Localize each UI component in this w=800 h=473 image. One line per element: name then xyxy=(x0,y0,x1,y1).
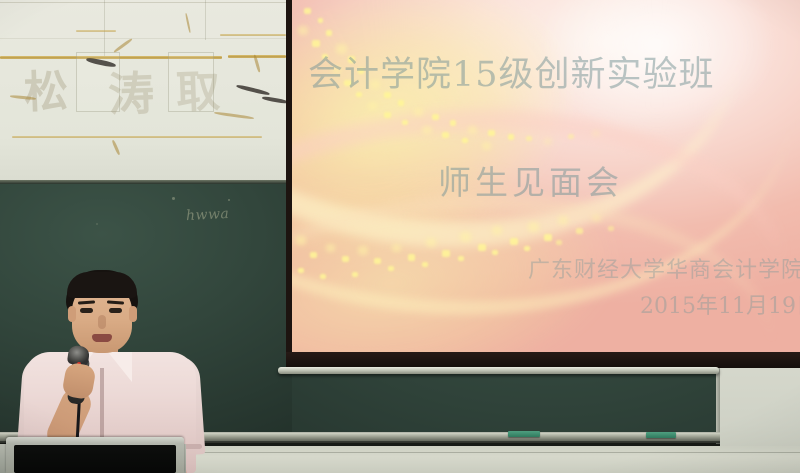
slide-organization: 广东财经大学华商会计学院 xyxy=(528,252,800,284)
wall-streak xyxy=(111,140,120,156)
ear-right xyxy=(129,306,137,322)
whiteboard-rail xyxy=(220,34,286,36)
ear-left xyxy=(68,306,76,322)
wall-streak xyxy=(185,13,191,33)
lecture-hall-scene: 松 涛 取 hwwa xyxy=(0,0,800,473)
chalk-dot xyxy=(172,197,175,200)
wall-streak xyxy=(262,96,288,104)
slide-text-layer: 会计学院15级创新实验班 师生见面会 广东财经大学华商会计学院 2015年11月… xyxy=(292,0,800,352)
whiteboard-panel: 松 涛 取 xyxy=(0,0,292,183)
eye-left xyxy=(80,308,93,313)
calligraphy-glyph: 松 xyxy=(23,55,69,120)
screen-weight-bar[interactable] xyxy=(278,367,719,374)
slide-date: 2015年11月19日 xyxy=(640,288,800,320)
projection-screen[interactable]: 会计学院15级创新实验班 师生见面会 广东财经大学华商会计学院 2015年11月… xyxy=(292,0,800,352)
chalk-dot xyxy=(228,199,230,201)
wall-streak xyxy=(113,38,133,53)
wall-streak xyxy=(236,84,270,96)
whiteboard-panel-line xyxy=(205,0,206,40)
collar-right xyxy=(108,352,132,382)
board-eraser[interactable] xyxy=(646,432,676,438)
eye-right xyxy=(109,308,122,313)
whiteboard-rail xyxy=(76,30,116,32)
slide-title: 会计学院15级创新实验班 xyxy=(308,46,715,97)
calligraphy-glyph: 涛 xyxy=(107,57,155,125)
board-eraser[interactable] xyxy=(508,431,540,437)
laptop-screen[interactable] xyxy=(14,445,176,473)
slide-subtitle: 师生见面会 xyxy=(438,156,623,204)
whiteboard-seam xyxy=(0,2,292,3)
mouth xyxy=(92,334,112,342)
calligraphy-glyph: 取 xyxy=(175,55,221,120)
whiteboard-rail xyxy=(12,136,262,138)
whiteboard-panel-line xyxy=(104,0,105,56)
whiteboard-seam xyxy=(0,38,292,39)
chalk-dot xyxy=(96,223,98,225)
chalk-writing: hwwa xyxy=(186,206,230,224)
screen-lower-housing xyxy=(286,352,800,368)
hair-fringe xyxy=(67,272,137,298)
nose xyxy=(98,315,106,329)
blackboard-top-edge xyxy=(0,180,292,184)
